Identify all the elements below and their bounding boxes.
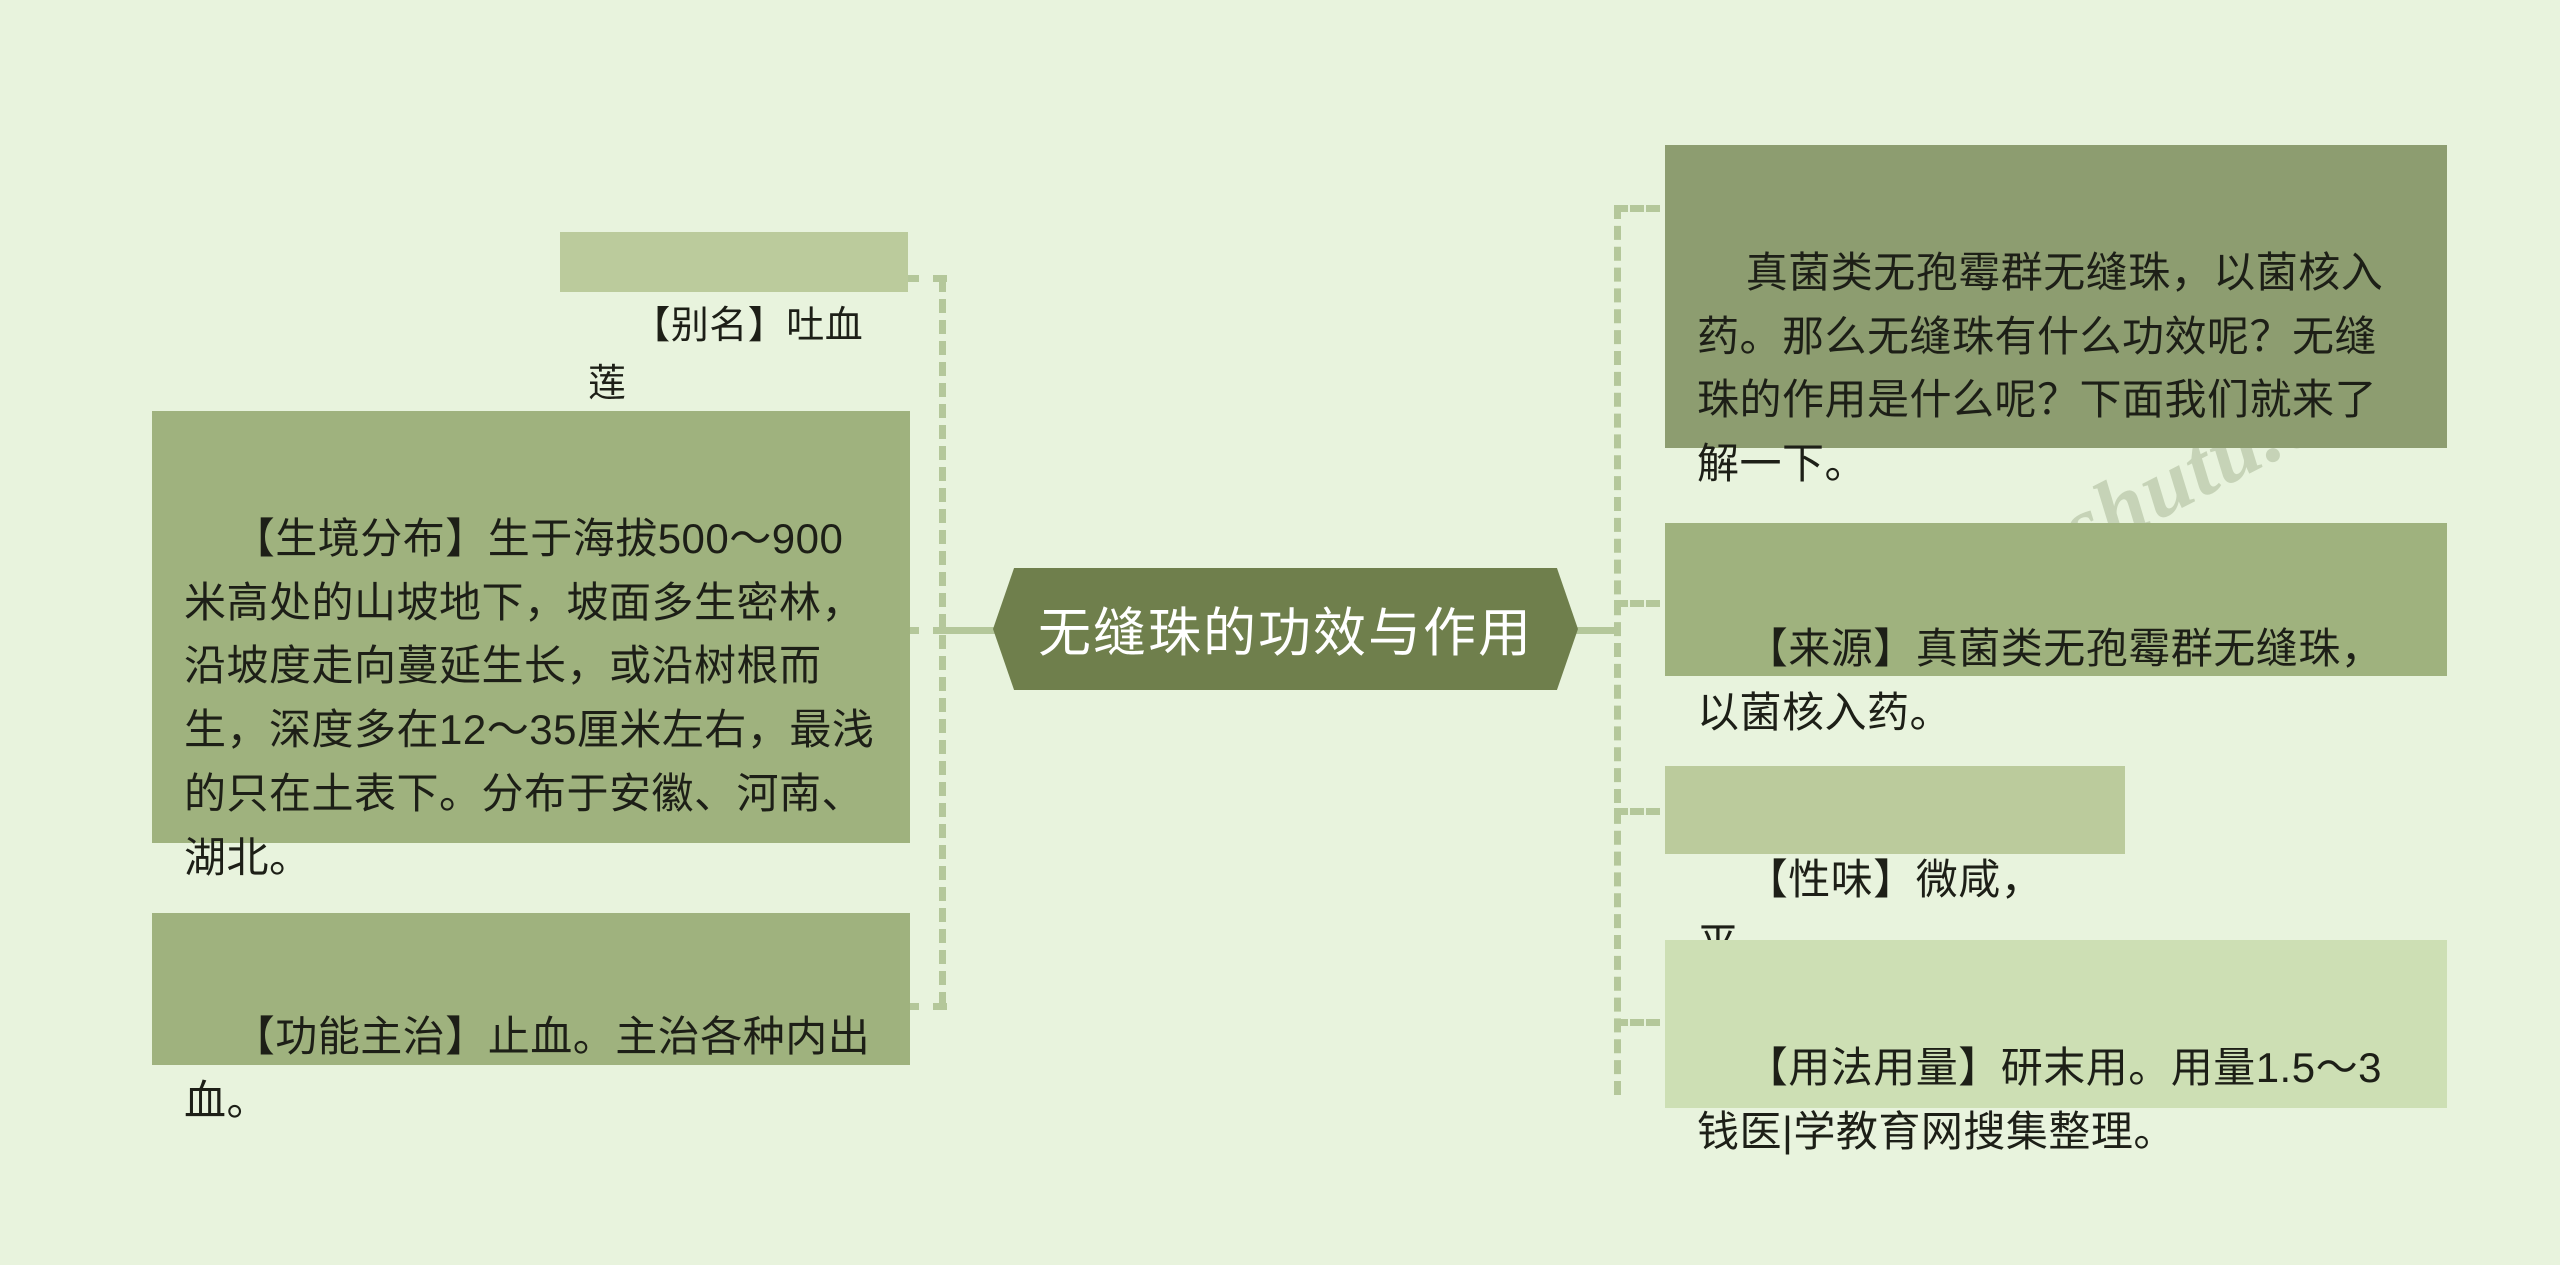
- left-stub-alias: [905, 275, 947, 282]
- right-hub-lead: [1573, 627, 1621, 634]
- right-stub-source: [1614, 600, 1660, 607]
- node-alias-label: 【别名】吐血莲: [588, 305, 863, 405]
- node-indications[interactable]: 【功能主治】止血。主治各种内出血。: [152, 913, 910, 1065]
- node-source[interactable]: 【来源】真菌类无孢霉群无缝珠，以菌核入药。: [1665, 523, 2447, 676]
- node-habitat[interactable]: 【生境分布】生于海拔500～900米高处的山坡地下，坡面多生密林，沿坡度走向蔓延…: [152, 411, 910, 843]
- mindmap-canvas: www.jyshutu.cn www.jyshutu.cn 无缝珠的功效与作用 …: [0, 0, 2560, 1265]
- right-stub-dosage: [1614, 1019, 1660, 1026]
- node-dosage[interactable]: 【用法用量】研末用。用量1.5～3钱医|学教育网搜集整理。: [1665, 940, 2447, 1108]
- center-node-label: 无缝珠的功效与作用: [1038, 591, 1533, 667]
- node-dosage-label: 【用法用量】研末用。用量1.5～3钱医|学教育网搜集整理。: [1697, 1044, 2382, 1155]
- right-connector-spine: [1614, 205, 1621, 1095]
- node-source-label: 【来源】真菌类无孢霉群无缝珠，以菌核入药。: [1697, 625, 2383, 736]
- right-stub-intro: [1614, 205, 1660, 212]
- center-node[interactable]: 无缝珠的功效与作用: [993, 568, 1578, 690]
- right-stub-nature-flavor: [1614, 808, 1660, 815]
- node-nature-flavor[interactable]: 【性味】微咸，平。: [1665, 766, 2125, 854]
- node-intro[interactable]: 真菌类无孢霉群无缝珠，以菌核入药。那么无缝珠有什么功效呢？无缝珠的作用是什么呢？…: [1665, 145, 2447, 448]
- node-intro-label: 真菌类无孢霉群无缝珠，以菌核入药。那么无缝珠有什么功效呢？无缝珠的作用是什么呢？…: [1697, 249, 2383, 487]
- node-alias[interactable]: 【别名】吐血莲: [560, 232, 908, 292]
- node-indications-label: 【功能主治】止血。主治各种内出血。: [184, 1013, 870, 1124]
- node-habitat-label: 【生境分布】生于海拔500～900米高处的山坡地下，坡面多生密林，沿坡度走向蔓延…: [184, 515, 874, 881]
- left-stub-indications: [905, 1003, 947, 1010]
- left-connector-spine: [939, 278, 946, 1006]
